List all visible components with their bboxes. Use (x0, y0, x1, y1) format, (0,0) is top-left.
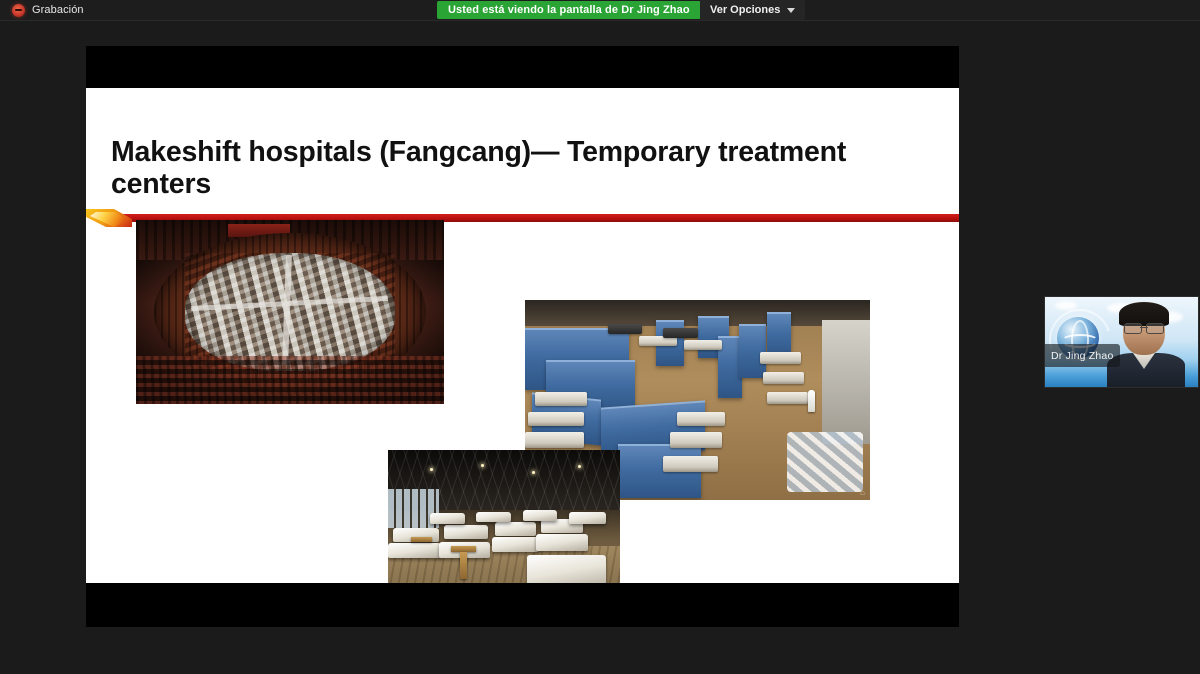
ward-bed (663, 456, 718, 472)
ward-bed (684, 340, 722, 350)
hall-desk (411, 537, 432, 542)
glasses-icon (1124, 323, 1164, 332)
chevron-down-icon (787, 8, 795, 13)
ward-bed (535, 392, 587, 406)
participant-name: Dr Jing Zhao (1051, 350, 1114, 362)
view-options-label: Ver Opciones (710, 4, 780, 16)
hall-bed (523, 510, 558, 521)
ward-bed (677, 412, 725, 426)
ward-bed (525, 432, 584, 448)
arena-field-hospital-photo (136, 220, 444, 404)
screen-share-banner: Usted está viendo la pantalla de Dr Jing… (437, 1, 701, 19)
ward-bed (760, 352, 801, 364)
ward-medical-worker (808, 390, 815, 412)
ward-bed (763, 372, 804, 384)
ward-bed (767, 392, 808, 404)
hall-ceiling-lamp (481, 464, 484, 467)
indoor-hall-beds-photo (388, 450, 620, 583)
view-options-button[interactable]: Ver Opciones (700, 0, 805, 20)
hall-bed (476, 512, 511, 523)
ward-photo-watermark: ⌂ (860, 488, 866, 497)
slide-title: Makeshift hospitals (Fangcang)— Temporar… (111, 137, 911, 201)
hall-ceiling-lamp (532, 471, 535, 474)
hall-bed (492, 537, 538, 552)
glasses-right-lens (1146, 323, 1164, 334)
ward-bed (670, 432, 722, 448)
arena-lower-stands (136, 356, 444, 404)
ward-bed (528, 412, 583, 426)
hall-bed (388, 543, 441, 558)
ward-supply-pile (787, 432, 863, 492)
hall-bed (536, 534, 587, 551)
hall-bed (569, 512, 606, 524)
hall-bed (495, 522, 537, 536)
zoom-meeting-window: Grabación Usted está viendo la pantalla … (0, 0, 1200, 674)
recording-label: Grabación (32, 4, 84, 16)
shared-screen-area[interactable]: Makeshift hospitals (Fangcang)— Temporar… (86, 46, 959, 627)
hall-desk-leg (460, 552, 467, 579)
recording-icon (12, 4, 25, 17)
screen-share-banner-text: Usted está viendo la pantalla de Dr Jing… (448, 4, 690, 16)
ward-partition (739, 324, 767, 378)
glasses-left-lens (1124, 323, 1142, 334)
hall-bed (430, 513, 465, 524)
hall-bed (527, 555, 606, 583)
ward-bed (663, 328, 698, 338)
hall-ceiling-lamp (430, 468, 433, 471)
participant-name-badge: Dr Jing Zhao (1045, 344, 1120, 367)
ward-bed (608, 324, 643, 334)
recording-indicator[interactable]: Grabación (12, 0, 84, 20)
hall-bed (444, 525, 488, 539)
presentation-slide: Makeshift hospitals (Fangcang)— Temporar… (86, 88, 959, 583)
participant-video-thumbnail[interactable]: Dr Jing Zhao (1044, 296, 1199, 388)
ward-right-structure (822, 320, 870, 444)
meeting-top-bar: Grabación Usted está viendo la pantalla … (0, 0, 1200, 21)
